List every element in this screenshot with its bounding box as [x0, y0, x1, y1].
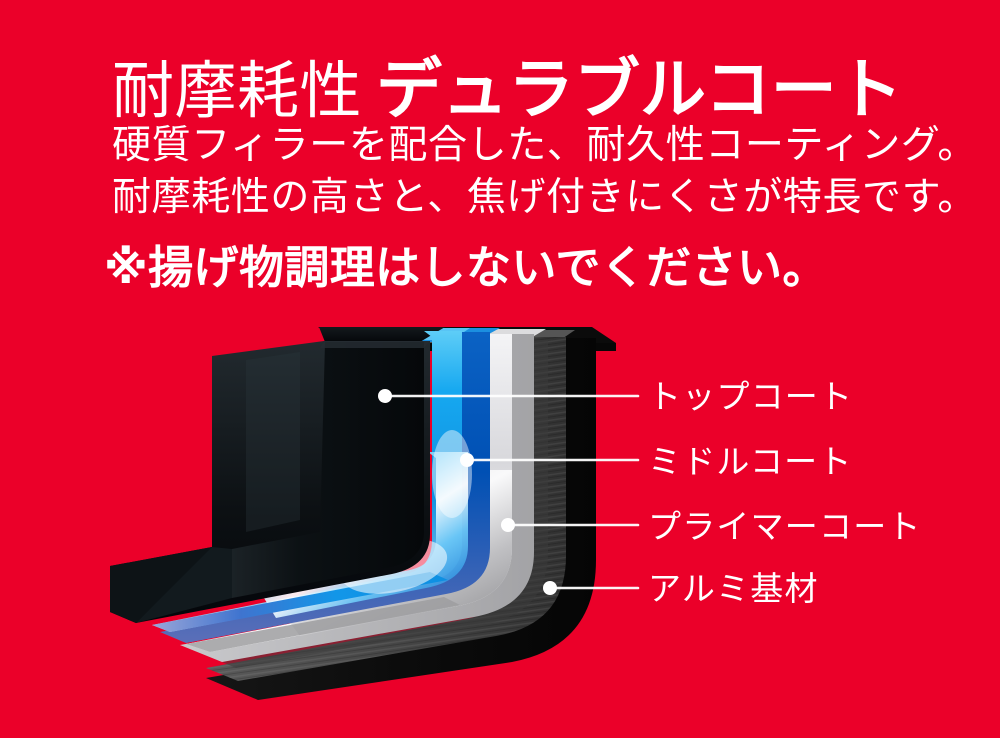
caution-notice: ※揚げ物調理はしないでください。 [104, 238, 944, 298]
leader-dot-primer-coat [501, 518, 515, 532]
description-block: 硬質フィラーを配合した、耐久性コーティング。 耐摩耗性の高さと、焦げ付きにくさが… [112, 120, 942, 224]
description-line-1: 硬質フィラーを配合した、耐久性コーティング。 [112, 120, 942, 172]
callout-label-primer-coat: プライマーコート [648, 510, 922, 543]
description-line-2: 耐摩耗性の高さと、焦げ付きにくさが特長です。 [112, 172, 942, 224]
leader-dot-base-metal [543, 581, 557, 595]
title-lead-text: 耐摩耗性 [112, 57, 362, 126]
callout-label-top-coat: トップコート [648, 380, 853, 413]
product-feature-poster: 耐摩耗性デュラブルコート 硬質フィラーを配合した、耐久性コーティング。 耐摩耗性… [0, 0, 1000, 738]
leader-dot-top-coat [378, 389, 392, 403]
page-title: 耐摩耗性デュラブルコート [112, 49, 932, 129]
leader-dot-middle-coat [460, 453, 474, 467]
title-product-name: デュラブルコート [376, 52, 903, 126]
callout-label-base-metal: アルミ基材 [648, 572, 819, 605]
callout-label-middle-coat: ミドルコート [648, 445, 853, 478]
